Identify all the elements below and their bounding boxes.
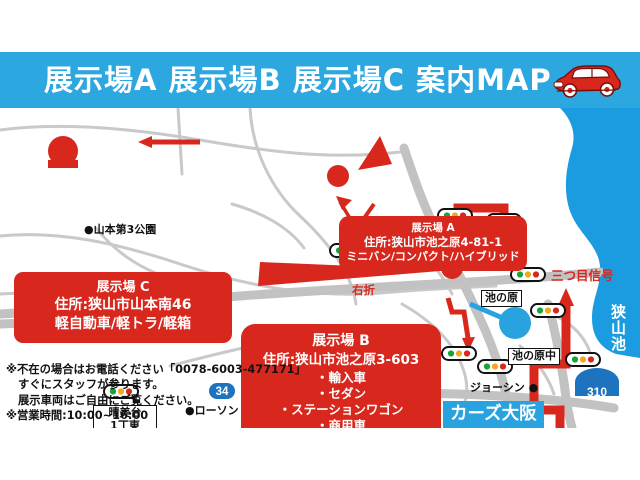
annotation-turn-right: 右折 <box>352 282 375 298</box>
marker-cars-osaka <box>499 307 531 339</box>
landmark-label-sayama-lake: 狭山池 <box>608 304 629 352</box>
callout-a-types: ミニバン/コンパクト/ハイブリッド <box>343 250 523 264</box>
annotation-third-signal: 三つ目信号 <box>551 265 614 284</box>
callout-a-title: 展示場 A <box>343 222 523 235</box>
note-line-4: ※営業時間:10:00~16:00 <box>6 408 306 423</box>
page-title: 展示場A 展示場B 展示場C 案内MAP <box>44 60 552 100</box>
callout-c-address: 住所:狭山市山本南46 <box>18 296 228 315</box>
header-banner: 展示場A 展示場B 展示場C 案内MAP <box>0 52 640 108</box>
callout-a-address: 住所:狭山市池之原4-81-1 <box>343 235 523 250</box>
route-shield-310: 310 <box>575 368 619 399</box>
callout-c-title: 展示場 C <box>18 279 228 296</box>
landmark-label-cars-osaka: カーズ大阪 <box>443 401 544 428</box>
intersection-ikenohara-naka: 池の原中 <box>508 348 560 365</box>
map-flyer: 展示場A 展示場B 展示場C 案内MAP <box>0 0 640 480</box>
marker-showroom-a <box>327 165 349 187</box>
red-car-icon <box>548 60 624 102</box>
callout-showroom-a: 展示場 A 住所:狭山市池之原4-81-1 ミニバン/コンパクト/ハイブリッド <box>339 216 527 271</box>
callout-b-title: 展示場 B <box>245 332 437 351</box>
intersection-ikenohara: 池の原 <box>481 290 522 307</box>
traffic-signal-joshin <box>531 304 565 317</box>
footer-notes: ※不在の場合はお電話ください「0078-6003-477171」 すぐにスタッフ… <box>6 362 306 424</box>
svg-text:310: 310 <box>587 385 607 399</box>
note-line-2: すぐにスタッフが参ります。 <box>6 377 306 392</box>
traffic-signal-kamenoko <box>566 353 600 366</box>
callout-c-types: 軽自動車/軽トラ/軽箱 <box>18 315 228 334</box>
poi-label-yamamoto-park: ●山本第3公園 <box>84 221 156 237</box>
note-line-1: ※不在の場合はお電話ください「0078-6003-477171」 <box>6 362 306 377</box>
traffic-signal-iwamuro <box>478 360 512 373</box>
note-line-3: 展示車両はご自由にご覧ください。 <box>6 393 306 408</box>
callout-showroom-c: 展示場 C 住所:狭山市山本南46 軽自動車/軽トラ/軽箱 <box>14 272 232 343</box>
poi-label-joshin: ジョーシン ● <box>470 379 538 395</box>
